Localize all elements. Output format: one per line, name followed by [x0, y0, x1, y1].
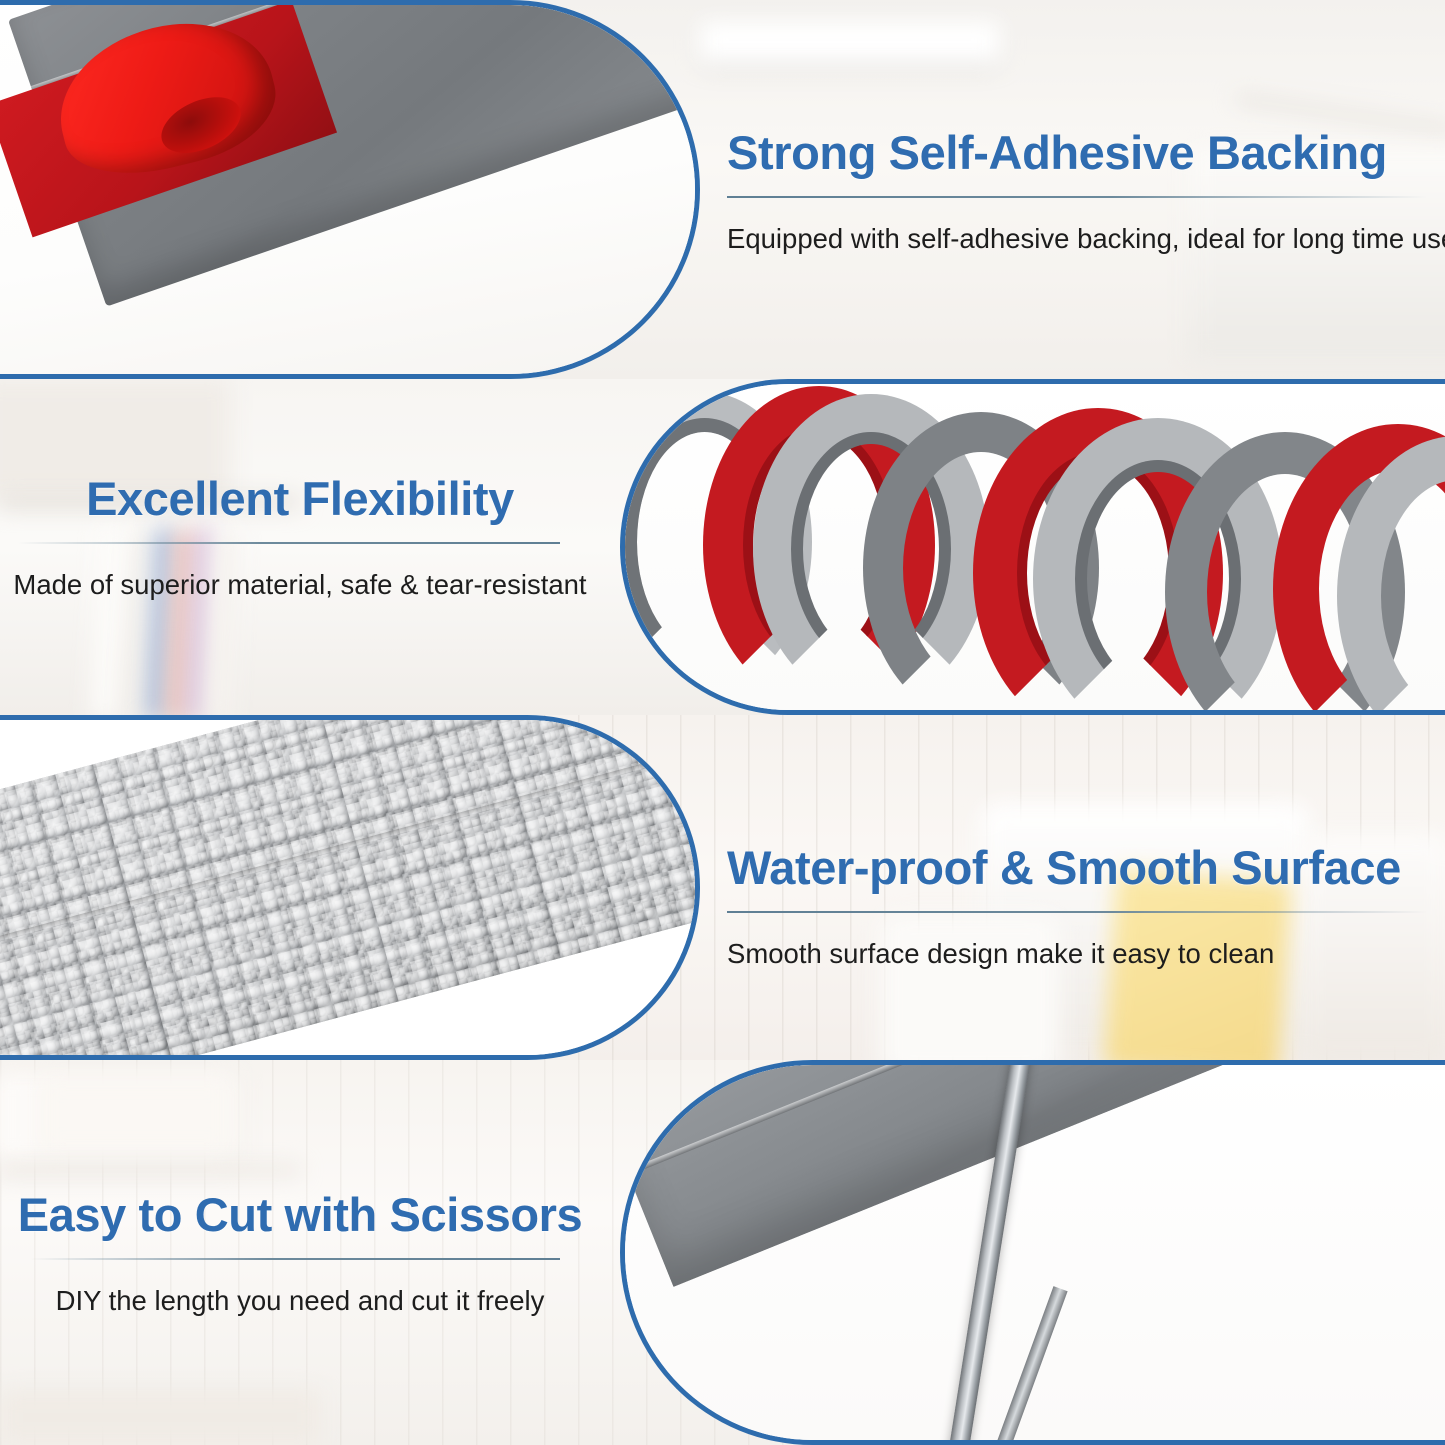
feature-row-1: Strong Self-Adhesive Backing Equipped wi… — [0, 0, 1445, 379]
feature-1-text: Strong Self-Adhesive Backing Equipped wi… — [727, 128, 1427, 257]
feature-2-subtext: Made of superior material, safe & tear-r… — [0, 568, 600, 602]
feature-2-text: Excellent Flexibility Made of superior m… — [0, 474, 600, 603]
feature-2-divider — [18, 542, 560, 544]
feature-1-image-panel — [0, 0, 700, 379]
feature-row-4: Easy to Cut with Scissors DIY the length… — [0, 1060, 1445, 1445]
adhesive-peel-icon — [0, 5, 695, 374]
feature-1-heading: Strong Self-Adhesive Backing — [727, 128, 1427, 177]
feature-1-divider — [727, 196, 1427, 198]
water-droplets-icon — [0, 720, 695, 1055]
feature-4-image-panel — [620, 1060, 1445, 1445]
feature-row-3: Water-proof & Smooth Surface Smooth surf… — [0, 715, 1445, 1060]
feature-4-text: Easy to Cut with Scissors DIY the length… — [0, 1190, 600, 1319]
feature-2-image-panel — [620, 379, 1445, 715]
feature-2-heading: Excellent Flexibility — [0, 474, 600, 523]
feature-3-image-panel — [0, 715, 700, 1060]
feature-row-2: Excellent Flexibility Made of superior m… — [0, 379, 1445, 715]
feature-4-heading: Easy to Cut with Scissors — [0, 1190, 600, 1239]
feature-4-divider — [30, 1258, 560, 1260]
scissors-cut-icon — [625, 1065, 1445, 1440]
feature-3-divider — [727, 911, 1427, 913]
feature-4-subtext: DIY the length you need and cut it freel… — [0, 1284, 600, 1318]
infographic-sheet: Strong Self-Adhesive Backing Equipped wi… — [0, 0, 1445, 1445]
feature-3-text: Water-proof & Smooth Surface Smooth surf… — [727, 843, 1427, 972]
coil-spiral-icon — [625, 384, 1445, 710]
feature-3-heading: Water-proof & Smooth Surface — [727, 843, 1427, 892]
feature-3-subtext: Smooth surface design make it easy to cl… — [727, 937, 1427, 971]
feature-1-subtext: Equipped with self-adhesive backing, ide… — [727, 222, 1427, 256]
